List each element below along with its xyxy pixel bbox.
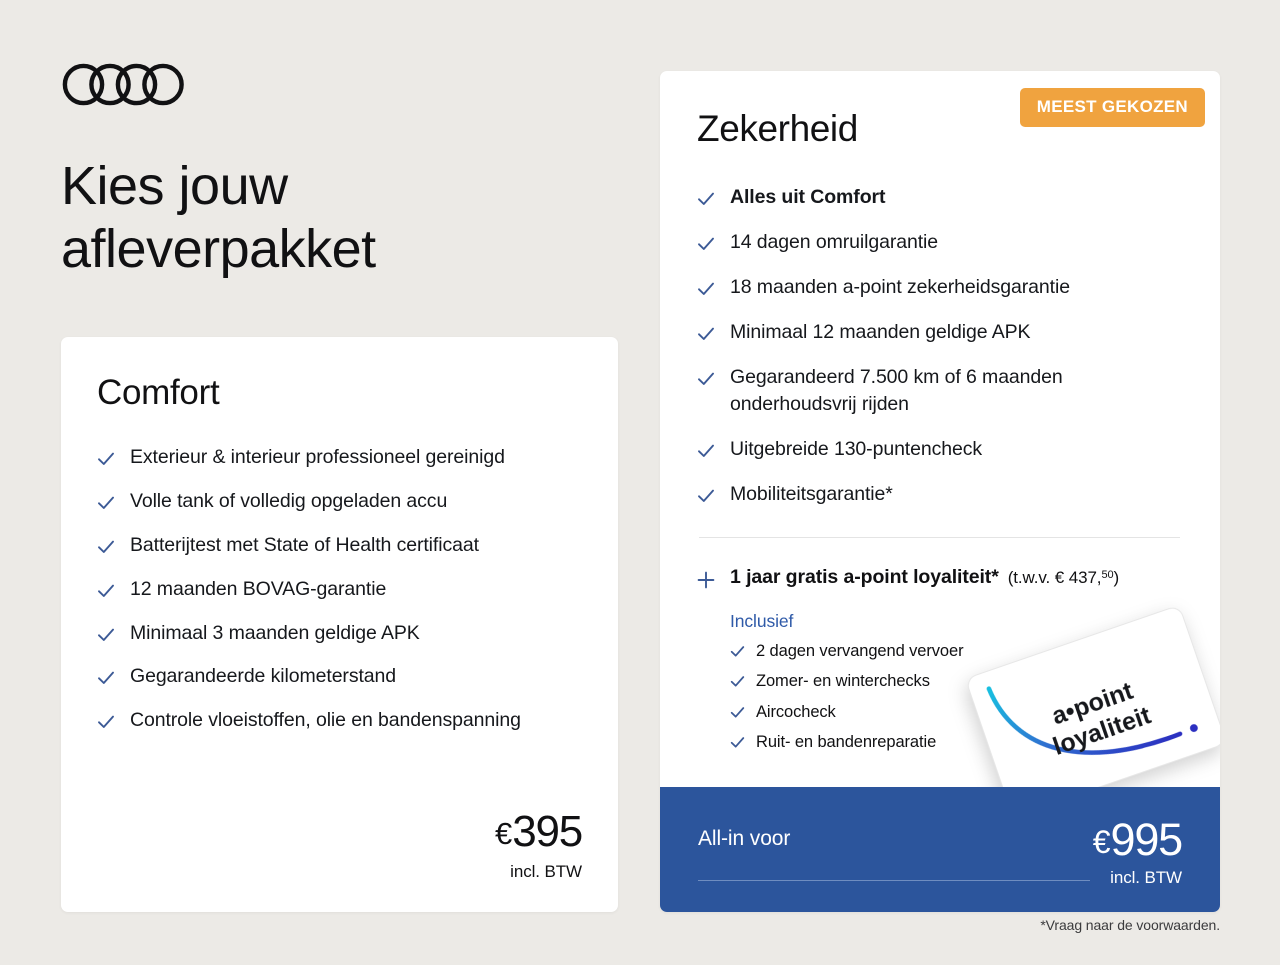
feature-text: Minimaal 12 maanden geldige APK: [730, 319, 1187, 347]
list-item: 2 dagen vervangend vervoer: [730, 640, 1197, 662]
list-item: Uitgebreide 130-puntencheck: [697, 436, 1187, 464]
check-icon: [697, 325, 715, 343]
feature-text: Uitgebreide 130-puntencheck: [730, 436, 1187, 464]
zekerheid-title: Zekerheid: [697, 108, 858, 150]
check-icon: [730, 735, 745, 750]
zekerheid-price-block: €995 incl. BTW: [1093, 817, 1182, 888]
plus-icon: [697, 571, 715, 589]
zekerheid-price-footer: All-in voor €995 incl. BTW: [660, 787, 1220, 912]
loyalty-item-text: Aircocheck: [756, 701, 836, 723]
loyalty-item-text: 2 dagen vervangend vervoer: [756, 640, 963, 662]
check-icon: [97, 582, 115, 600]
check-icon: [97, 713, 115, 731]
feature-text: Volle tank of volledig opgeladen accu: [130, 488, 577, 516]
check-icon: [730, 674, 745, 689]
comfort-title: Comfort: [97, 373, 219, 413]
list-item: Gegarandeerde kilometerstand: [97, 663, 577, 691]
list-item: Controle vloeistoffen, olie en bandenspa…: [97, 707, 577, 735]
loyalty-title: 1 jaar gratis a-point loyaliteit*: [730, 566, 999, 588]
section-divider: [699, 537, 1180, 538]
list-item: Batterijtest met State of Health certifi…: [97, 532, 577, 560]
price-amount: €995: [1093, 817, 1182, 862]
list-item: Exterieur & interieur professioneel gere…: [97, 444, 577, 472]
feature-text: 18 maanden a-point zekerheidsgarantie: [730, 274, 1187, 302]
list-item: Alles uit Comfort: [697, 184, 1187, 212]
audi-rings-logo: [61, 62, 189, 107]
check-icon: [730, 644, 745, 659]
check-icon: [697, 442, 715, 460]
package-card-comfort[interactable]: Comfort Exterieur & interieur profession…: [61, 337, 618, 912]
check-icon: [97, 494, 115, 512]
feature-text: Exterieur & interieur professioneel gere…: [130, 444, 577, 472]
brand-column: Kies jouw afleverpakket: [61, 62, 618, 281]
check-icon: [97, 538, 115, 556]
list-item: 18 maanden a-point zekerheidsgarantie: [697, 274, 1187, 302]
zekerheid-feature-list: Alles uit Comfort 14 dagen omruilgaranti…: [697, 184, 1187, 526]
list-item: Gegarandeerd 7.500 km of 6 maanden onder…: [697, 364, 1187, 420]
comfort-feature-list: Exterieur & interieur professioneel gere…: [97, 444, 577, 751]
loyalty-item-text: Ruit- en bandenreparatie: [756, 731, 936, 753]
list-item: Zomer- en winterchecks: [730, 670, 1197, 692]
list-item: Aircocheck: [730, 701, 1197, 723]
check-icon: [97, 626, 115, 644]
feature-text: Batterijtest met State of Health certifi…: [130, 532, 577, 560]
check-icon: [697, 487, 715, 505]
price-note: incl. BTW: [495, 862, 582, 882]
feature-text: 12 maanden BOVAG-garantie: [130, 576, 577, 604]
currency-symbol: €: [495, 816, 512, 851]
list-item: 14 dagen omruilgarantie: [697, 229, 1187, 257]
list-item: Minimaal 3 maanden geldige APK: [97, 620, 577, 648]
price-amount: €395: [495, 810, 582, 854]
package-card-zekerheid[interactable]: MEEST GEKOZEN Zekerheid Alles uit Comfor…: [660, 71, 1220, 912]
loyalty-heading: 1 jaar gratis a-point loyaliteit*(t.w.v.…: [697, 566, 1197, 589]
price-value: 395: [512, 807, 582, 856]
footer-divider: [698, 880, 1090, 881]
feature-text: Gegarandeerd 7.500 km of 6 maanden onder…: [730, 364, 1187, 420]
check-icon: [697, 370, 715, 388]
feature-text: Gegarandeerde kilometerstand: [130, 663, 577, 691]
comfort-price-block: €395 incl. BTW: [495, 810, 582, 882]
feature-text: Controle vloeistoffen, olie en bandenspa…: [130, 707, 577, 735]
loyalty-worth: (t.w.v. € 437,50): [1008, 568, 1119, 587]
feature-text: 14 dagen omruilgarantie: [730, 229, 1187, 257]
check-icon: [97, 450, 115, 468]
check-icon: [697, 190, 715, 208]
list-item: Ruit- en bandenreparatie: [730, 731, 1197, 753]
check-icon: [730, 705, 745, 720]
allin-label: All-in voor: [698, 827, 790, 851]
price-value: 995: [1111, 814, 1182, 865]
page-title: Kies jouw afleverpakket: [61, 155, 618, 281]
feature-text: Mobiliteitsgarantie*: [730, 481, 1187, 509]
price-note: incl. BTW: [1093, 868, 1182, 888]
check-icon: [97, 669, 115, 687]
feature-text: Alles uit Comfort: [730, 184, 1187, 212]
list-item: Mobiliteitsgarantie*: [697, 481, 1187, 509]
footnote: *Vraag naar de voorwaarden.: [1040, 917, 1220, 933]
loyalty-item-text: Zomer- en winterchecks: [756, 670, 930, 692]
check-icon: [697, 280, 715, 298]
list-item: Minimaal 12 maanden geldige APK: [697, 319, 1187, 347]
status-badge: MEEST GEKOZEN: [1020, 88, 1205, 127]
list-item: 12 maanden BOVAG-garantie: [97, 576, 577, 604]
list-item: Volle tank of volledig opgeladen accu: [97, 488, 577, 516]
check-icon: [697, 235, 715, 253]
feature-text: Minimaal 3 maanden geldige APK: [130, 620, 577, 648]
currency-symbol: €: [1093, 824, 1111, 860]
